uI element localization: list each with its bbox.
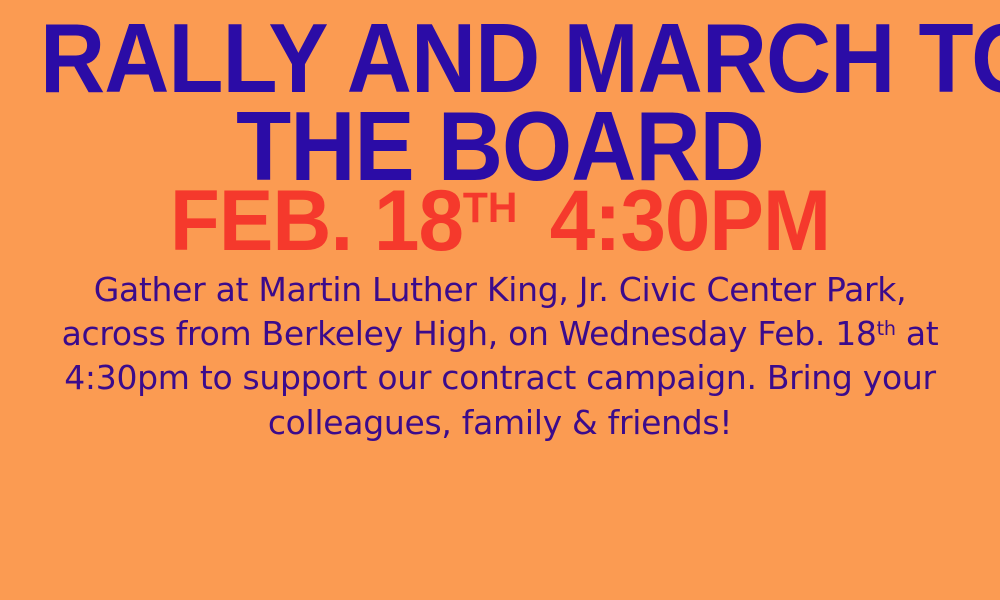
poster-body-copy: Gather at Martin Luther King, Jr. Civic …: [0, 268, 1000, 445]
poster-canvas: RALLY AND MARCH TO THE BOARD FEB. 18TH4:…: [0, 0, 1000, 600]
event-date-main: FEB. 18: [170, 173, 463, 269]
event-date: FEB. 18TH: [170, 178, 517, 264]
poster-headline: RALLY AND MARCH TO THE BOARD: [40, 14, 960, 190]
poster-datetime: FEB. 18TH4:30PM: [25, 178, 975, 264]
body-line-1: Gather at Martin Luther King, Jr. Civic …: [0, 268, 1000, 312]
headline-line-1: RALLY AND MARCH TO: [40, 14, 960, 102]
body-line-2-part-a: across from Berkeley High, on Wednesday …: [62, 314, 877, 353]
body-date-ordinal-suffix: th: [877, 317, 896, 340]
body-line-2-part-b: at: [896, 314, 939, 353]
body-line-2: across from Berkeley High, on Wednesday …: [0, 312, 1000, 356]
body-line-3: 4:30pm to support our contract campaign.…: [0, 356, 1000, 400]
event-time: 4:30PM: [550, 178, 830, 264]
body-line-4: colleagues, family & friends!: [0, 401, 1000, 445]
event-date-ordinal-suffix: TH: [463, 184, 517, 232]
